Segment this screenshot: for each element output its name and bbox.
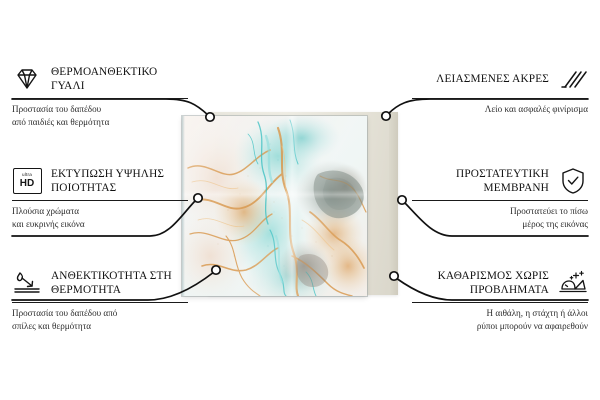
ultra-hd-badge-icon: ultra HD	[12, 166, 42, 196]
product-feature-infographic: ΘΕΡΜΟΑΝΘΕΚΤΙΚΟ ΓΥΑΛΙ Προστασία του δαπέδ…	[0, 0, 600, 400]
feature-right-polished-edges: ΛΕΙΑΣΜΕΝΕΣ ΑΚΡΕΣ Λείο και ασφαλές φινίρι…	[412, 64, 588, 116]
backing-board-edge	[389, 112, 398, 295]
feature-right-protective-membrane: ΠΡΟΣΤΑΤΕΥΤΙΚΗ ΜΕΜΒΡΑΝΗ Προστατεύει το πί…	[412, 166, 588, 230]
easy-clean-icon	[558, 268, 588, 298]
marble-artwork	[182, 116, 367, 296]
feature-description: Η αιθάλη, η στάχτη ή άλλοιρύποι μπορούν …	[412, 307, 588, 332]
feature-header: ΑΝΘΕΚΤΙΚΟΤΗΤΑ ΣΤΗ ΘΕΡΜΟΤΗΤΑ	[12, 268, 188, 298]
feature-title: ΛΕΙΑΣΜΕΝΕΣ ΑΚΡΕΣ	[412, 72, 549, 86]
feature-description: Προστασία του δαπέδου απόσπίλες και θερμ…	[12, 307, 188, 332]
feature-header: ultra HD ΕΚΤΥΠΩΣΗ ΥΨΗΛΗΣ ΠΟΙΟΤΗΤΑΣ	[12, 166, 188, 196]
feature-left-heat-durability: ΑΝΘΕΚΤΙΚΟΤΗΤΑ ΣΤΗ ΘΕΡΜΟΤΗΤΑ Προστασία το…	[12, 268, 188, 332]
shield-check-icon	[558, 166, 588, 196]
diamond-icon	[12, 64, 42, 94]
feature-header: ΚΑΘΑΡΙΣΜΟΣ ΧΩΡΙΣ ΠΡΟΒΛΗΜΑΤΑ	[412, 268, 588, 298]
feature-divider	[412, 200, 588, 201]
feature-header: ΘΕΡΜΟΑΝΘΕΚΤΙΚΟ ΓΥΑΛΙ	[12, 64, 188, 94]
feature-divider	[412, 302, 588, 303]
feature-title: ΘΕΡΜΟΑΝΘΕΚΤΙΚΟ ΓΥΑΛΙ	[51, 65, 188, 94]
feature-divider	[412, 98, 588, 99]
feature-divider	[12, 200, 188, 201]
feature-divider	[12, 98, 188, 99]
product-image-stage	[182, 112, 400, 298]
feature-divider	[12, 302, 188, 303]
feature-right-easy-cleaning: ΚΑΘΑΡΙΣΜΟΣ ΧΩΡΙΣ ΠΡΟΒΛΗΜΑΤΑ Η αιθάλη, η …	[412, 268, 588, 332]
ultra-hd-badge-main-label: HD	[20, 179, 34, 189]
heat-resistance-icon	[12, 268, 42, 298]
feature-left-high-quality-print: ultra HD ΕΚΤΥΠΩΣΗ ΥΨΗΛΗΣ ΠΟΙΟΤΗΤΑΣ Πλούσ…	[12, 166, 188, 230]
feature-description: Προστατεύει το πίσωμέρος της εικόνας	[412, 205, 588, 230]
feature-description: Προστασία του δαπέδουαπό παιδιές και θερ…	[12, 103, 188, 128]
product-glass-panel	[182, 116, 367, 296]
feature-title: ΚΑΘΑΡΙΣΜΟΣ ΧΩΡΙΣ ΠΡΟΒΛΗΜΑΤΑ	[412, 269, 549, 298]
feature-description: Λείο και ασφαλές φινίρισμα	[412, 103, 588, 116]
polished-edges-icon	[558, 64, 588, 94]
feature-description: Πλούσια χρώματακαι ευκρινής εικόνα	[12, 205, 188, 230]
feature-title: ΠΡΟΣΤΑΤΕΥΤΙΚΗ ΜΕΜΒΡΑΝΗ	[412, 167, 549, 196]
feature-left-heat-resistant-glass: ΘΕΡΜΟΑΝΘΕΚΤΙΚΟ ΓΥΑΛΙ Προστασία του δαπέδ…	[12, 64, 188, 128]
feature-header: ΛΕΙΑΣΜΕΝΕΣ ΑΚΡΕΣ	[412, 64, 588, 94]
feature-header: ΠΡΟΣΤΑΤΕΥΤΙΚΗ ΜΕΜΒΡΑΝΗ	[412, 166, 588, 196]
feature-title: ΕΚΤΥΠΩΣΗ ΥΨΗΛΗΣ ΠΟΙΟΤΗΤΑΣ	[51, 167, 188, 196]
feature-title: ΑΝΘΕΚΤΙΚΟΤΗΤΑ ΣΤΗ ΘΕΡΜΟΤΗΤΑ	[51, 269, 188, 298]
